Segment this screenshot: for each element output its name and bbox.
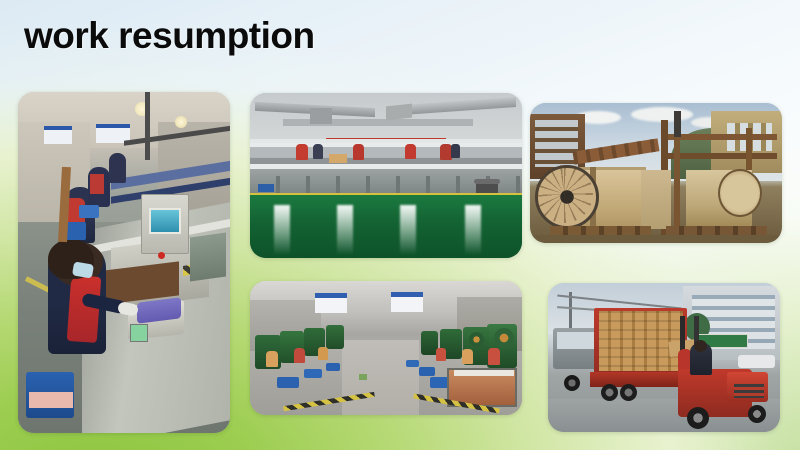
blue-crate: [258, 184, 274, 192]
floor-reflection: [337, 205, 353, 255]
assembly-line-scene: [18, 92, 230, 433]
blue-parts-bin: [419, 367, 435, 376]
worker: [294, 348, 305, 363]
floor-reflection: [400, 205, 416, 255]
ceiling-pipe: [145, 92, 150, 160]
worker: [318, 347, 328, 360]
photo-punch-press-floor[interactable]: Punch press workshop with green machines…: [250, 281, 522, 415]
scale-keypad: [130, 324, 148, 342]
ventilation-box: [310, 108, 332, 124]
blue-parts-bin: [406, 360, 419, 367]
blue-parts-bin: [277, 377, 299, 388]
floor-marker: [359, 374, 367, 380]
face-mask: [72, 261, 94, 278]
trolley-label: [454, 370, 514, 376]
floor-reflection: [274, 205, 290, 255]
hanging-sign: [315, 293, 347, 313]
hanging-sign: [391, 292, 423, 312]
worker: [462, 349, 473, 364]
parts-bin: [79, 205, 99, 218]
wall-sign: [44, 126, 72, 144]
ground: [530, 235, 782, 243]
workshop-scene: [250, 93, 522, 258]
photo-truck-loading[interactable]: Red forklift loading a red stake-bed tru…: [548, 283, 780, 432]
flywheel: [469, 332, 484, 347]
worker: [451, 144, 460, 158]
flywheel: [494, 328, 514, 348]
slide-canvas: work resumption: [0, 0, 800, 450]
floor-reflection: [465, 205, 481, 255]
worker: [436, 348, 446, 361]
punch-press-machine: [326, 325, 344, 349]
foreground-worker-jacket: [67, 275, 102, 343]
punch-press-scene: [250, 281, 522, 415]
truck-loading-scene: [548, 283, 780, 432]
workbench-row: [250, 143, 522, 164]
worker: [296, 144, 308, 160]
truck-cab-window: [557, 332, 594, 348]
blue-parts-bin: [326, 363, 340, 371]
photo-assembly-line[interactable]: Factory assembly line with masked worker…: [18, 92, 230, 433]
cable-drum: [641, 170, 671, 229]
ventilation-box: [386, 103, 412, 120]
carton: [329, 154, 347, 163]
worker: [405, 144, 416, 159]
worker: [353, 144, 364, 160]
forklift-driver-head: [694, 340, 707, 352]
blue-parts-bin: [304, 369, 322, 378]
forklift-grille: [734, 384, 764, 397]
photo-workshop-green-floor[interactable]: Production workshop with green epoxy flo…: [250, 93, 522, 258]
worker: [109, 153, 126, 183]
photo-cable-reels[interactable]: Large wooden cable reels on pallets in t…: [530, 103, 782, 243]
aisle: [342, 340, 418, 415]
building-windows: [535, 120, 578, 168]
material-cart: [190, 233, 226, 282]
worker-jacket: [90, 174, 104, 194]
parts-bin-contents: [29, 392, 73, 408]
cable-reel-face: [718, 169, 762, 217]
stool-seat: [474, 179, 500, 184]
worker: [266, 351, 278, 367]
worker: [488, 348, 500, 365]
ceiling-lamp: [175, 116, 187, 128]
parked-car: [738, 355, 775, 368]
control-screen: [149, 208, 181, 234]
steel-rack-post: [674, 128, 680, 234]
page-title: work resumption: [24, 16, 315, 57]
green-epoxy-floor: [250, 195, 522, 258]
cable-reels-scene: [530, 103, 782, 243]
truck-wheel: [564, 375, 580, 391]
vent-stack: [674, 111, 681, 136]
cable-reel-spokes: [535, 165, 593, 223]
worker: [313, 144, 323, 159]
